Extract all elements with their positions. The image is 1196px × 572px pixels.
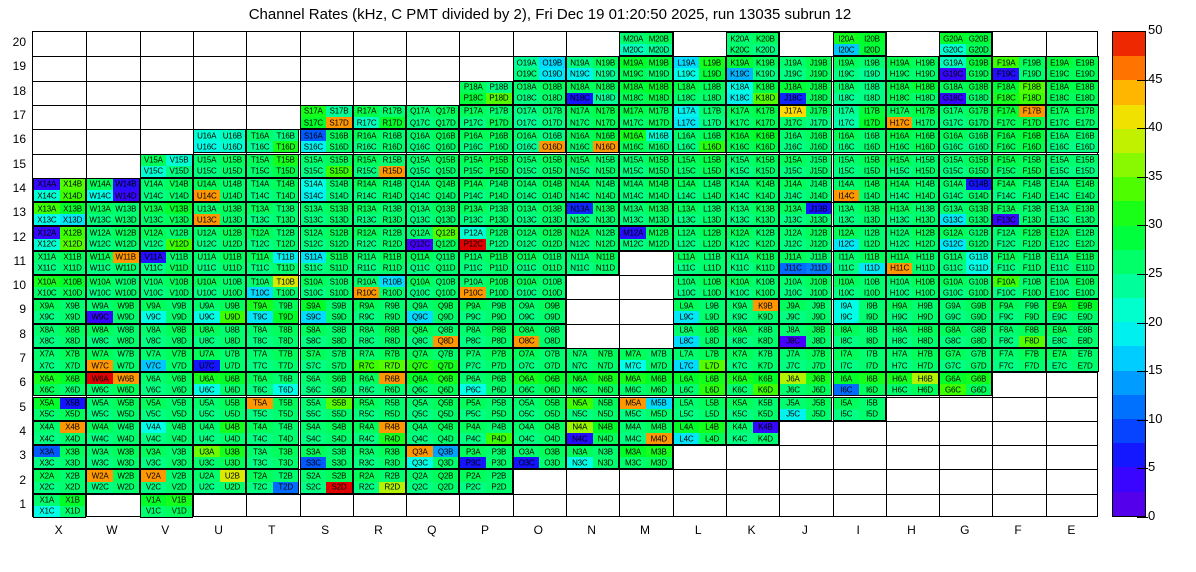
channel-quadrant-c[interactable]: L14C [674, 190, 700, 201]
paddle-cell[interactable]: P7AP7BP7CP7D [459, 348, 512, 372]
channel-quadrant-d[interactable]: V2D [166, 482, 192, 493]
paddle-cell[interactable]: I5AI5BI5CI5D [833, 397, 886, 421]
channel-quadrant-d[interactable]: W10D [113, 287, 139, 298]
paddle-cell[interactable]: I14AI14BI14CI14D [833, 178, 886, 202]
channel-quadrant-d[interactable]: T3D [273, 457, 299, 468]
channel-quadrant-a[interactable]: O6A [514, 373, 540, 384]
channel-quadrant-c[interactable]: L17C [674, 117, 700, 128]
channel-quadrant-d[interactable]: R6D [379, 384, 405, 395]
channel-quadrant-d[interactable]: M12D [646, 239, 672, 250]
channel-quadrant-a[interactable]: M15A [620, 155, 646, 166]
channel-quadrant-b[interactable]: T8B [273, 325, 299, 336]
channel-quadrant-c[interactable]: W14C [87, 190, 113, 201]
channel-quadrant-d[interactable]: J19D [806, 68, 832, 79]
channel-quadrant-c[interactable]: S9C [301, 311, 327, 322]
channel-quadrant-b[interactable]: E15B [1072, 155, 1098, 166]
channel-quadrant-a[interactable]: M13A [620, 203, 646, 214]
channel-quadrant-a[interactable]: E14A [1047, 179, 1073, 190]
channel-quadrant-d[interactable]: U4D [220, 433, 246, 444]
channel-quadrant-b[interactable]: L8B [699, 325, 725, 336]
paddle-cell[interactable]: T14AT14BT14CT14D [246, 178, 299, 202]
channel-quadrant-d[interactable]: K8D [753, 336, 779, 347]
paddle-cell[interactable]: O15AO15BO15CO15D [513, 154, 566, 178]
channel-quadrant-a[interactable]: G7A [940, 349, 966, 360]
paddle-cell[interactable]: P13AP13BP13CP13D [459, 202, 512, 226]
paddle-cell[interactable]: R8AR8BR8CR8D [353, 324, 406, 348]
channel-quadrant-a[interactable]: Q17A [407, 106, 433, 117]
channel-quadrant-d[interactable]: R14D [379, 190, 405, 201]
paddle-cell[interactable]: U11AU11BU11CU11D [193, 251, 246, 275]
channel-quadrant-a[interactable]: U13A [194, 203, 220, 214]
channel-quadrant-a[interactable]: J7A [780, 349, 806, 360]
channel-quadrant-a[interactable]: W9A [87, 300, 113, 311]
channel-quadrant-c[interactable]: W6C [87, 384, 113, 395]
channel-quadrant-a[interactable]: G19A [940, 57, 966, 68]
channel-quadrant-c[interactable]: K14C [727, 190, 753, 201]
channel-quadrant-d[interactable]: H11D [912, 263, 938, 274]
channel-quadrant-b[interactable]: N12B [593, 227, 619, 238]
channel-quadrant-c[interactable]: I11C [834, 263, 860, 274]
channel-quadrant-d[interactable]: L5D [699, 409, 725, 420]
channel-quadrant-b[interactable]: P7B [486, 349, 512, 360]
channel-quadrant-a[interactable]: T3A [247, 446, 273, 457]
channel-quadrant-c[interactable]: U12C [194, 239, 220, 250]
paddle-cell[interactable]: G10AG10BG10CG10D [939, 275, 992, 299]
channel-quadrant-b[interactable]: H6B [912, 373, 938, 384]
channel-quadrant-d[interactable]: K20D [753, 44, 779, 55]
channel-quadrant-c[interactable]: E17C [1047, 117, 1073, 128]
channel-quadrant-b[interactable]: F19B [1019, 57, 1045, 68]
channel-quadrant-d[interactable]: G18D [966, 93, 992, 104]
channel-quadrant-b[interactable]: R17B [379, 106, 405, 117]
channel-quadrant-a[interactable]: L13A [674, 203, 700, 214]
channel-quadrant-a[interactable]: M4A [620, 422, 646, 433]
paddle-cell[interactable]: G18AG18BG18CG18D [939, 81, 992, 105]
channel-quadrant-d[interactable]: L16D [699, 141, 725, 152]
channel-quadrant-d[interactable]: X10D [60, 287, 86, 298]
paddle-cell[interactable]: K10AK10BK10CK10D [726, 275, 779, 299]
channel-quadrant-c[interactable]: I17C [834, 117, 860, 128]
channel-quadrant-d[interactable]: P16D [486, 141, 512, 152]
channel-quadrant-b[interactable]: P13B [486, 203, 512, 214]
paddle-cell[interactable]: E17AE17BE17CE17D [1046, 105, 1099, 129]
paddle-cell[interactable]: F10AF10BF10CF10D [992, 275, 1045, 299]
channel-quadrant-b[interactable]: Q2B [433, 470, 459, 481]
channel-quadrant-d[interactable]: K7D [753, 360, 779, 371]
channel-quadrant-b[interactable]: J15B [806, 155, 832, 166]
channel-quadrant-a[interactable]: W14A [87, 179, 113, 190]
paddle-cell[interactable]: H13AH13BH13CH13D [886, 202, 939, 226]
paddle-cell[interactable]: I15AI15BI15CI15D [833, 154, 886, 178]
channel-quadrant-c[interactable]: P4C [460, 433, 486, 444]
paddle-cell[interactable]: R5AR5BR5CR5D [353, 397, 406, 421]
paddle-cell[interactable]: O14AO14BO14CO14D [513, 178, 566, 202]
channel-quadrant-c[interactable]: R4C [354, 433, 380, 444]
channel-quadrant-a[interactable]: W6A [87, 373, 113, 384]
channel-quadrant-b[interactable]: W8B [113, 325, 139, 336]
channel-quadrant-d[interactable]: W11D [113, 263, 139, 274]
channel-quadrant-c[interactable]: H19C [887, 68, 913, 79]
paddle-cell[interactable]: X14AX14BX14CX14D [33, 178, 86, 202]
channel-quadrant-c[interactable]: G17C [940, 117, 966, 128]
channel-quadrant-b[interactable]: W10B [113, 276, 139, 287]
paddle-cell[interactable]: T7AT7BT7CT7D [246, 348, 299, 372]
channel-quadrant-d[interactable]: S12D [326, 239, 352, 250]
channel-quadrant-b[interactable]: L15B [699, 155, 725, 166]
channel-quadrant-c[interactable]: H8C [887, 336, 913, 347]
paddle-cell[interactable]: M14AM14BM14CM14D [619, 178, 672, 202]
paddle-cell[interactable]: R14AR14BR14CR14D [353, 178, 406, 202]
channel-quadrant-a[interactable]: K9A [727, 300, 753, 311]
channel-quadrant-d[interactable]: K19D [753, 68, 779, 79]
channel-quadrant-b[interactable]: P6B [486, 373, 512, 384]
channel-quadrant-a[interactable]: H8A [887, 325, 913, 336]
paddle-cell[interactable]: W2AW2BW2CW2D [86, 469, 139, 493]
channel-quadrant-d[interactable]: R4D [379, 433, 405, 444]
channel-quadrant-c[interactable]: S5C [301, 409, 327, 420]
channel-quadrant-d[interactable]: L13D [699, 214, 725, 225]
channel-quadrant-c[interactable]: M17C [620, 117, 646, 128]
paddle-cell[interactable]: F13AF13BF13CF13D [992, 202, 1045, 226]
channel-quadrant-d[interactable]: W14D [113, 190, 139, 201]
paddle-cell[interactable]: Q10AQ10BQ10CQ10D [406, 275, 459, 299]
channel-quadrant-b[interactable]: R4B [379, 422, 405, 433]
channel-quadrant-c[interactable]: J15C [780, 166, 806, 177]
channel-quadrant-a[interactable]: W12A [87, 227, 113, 238]
channel-quadrant-c[interactable]: F13C [993, 214, 1019, 225]
paddle-cell[interactable]: T16AT16BT16CT16D [246, 129, 299, 153]
channel-quadrant-a[interactable]: Q12A [407, 227, 433, 238]
channel-quadrant-d[interactable]: G7D [966, 360, 992, 371]
paddle-cell[interactable]: K20AK20BK20CK20D [726, 32, 779, 56]
channel-quadrant-b[interactable]: H14B [912, 179, 938, 190]
channel-quadrant-d[interactable]: L7D [699, 360, 725, 371]
channel-quadrant-d[interactable]: V11D [166, 263, 192, 274]
channel-quadrant-d[interactable]: N3D [593, 457, 619, 468]
channel-quadrant-d[interactable]: Q15D [433, 166, 459, 177]
channel-quadrant-a[interactable]: J13A [780, 203, 806, 214]
channel-quadrant-a[interactable]: L18A [674, 82, 700, 93]
channel-quadrant-a[interactable]: N14A [567, 179, 593, 190]
channel-quadrant-c[interactable]: G15C [940, 166, 966, 177]
channel-quadrant-d[interactable]: V14D [166, 190, 192, 201]
channel-quadrant-b[interactable]: L18B [699, 82, 725, 93]
paddle-cell[interactable]: W4AW4BW4CW4D [86, 421, 139, 445]
paddle-cell[interactable]: Q9AQ9BQ9CQ9D [406, 299, 459, 323]
channel-quadrant-c[interactable]: S6C [301, 384, 327, 395]
channel-quadrant-d[interactable]: T4D [273, 433, 299, 444]
channel-quadrant-b[interactable]: J19B [806, 57, 832, 68]
paddle-cell[interactable]: Q12AQ12BQ12CQ12D [406, 226, 459, 250]
paddle-cell[interactable]: G20AG20BG20CG20D [939, 32, 992, 56]
paddle-cell[interactable]: K16AK16BK16CK16D [726, 129, 779, 153]
channel-quadrant-a[interactable]: M12A [620, 227, 646, 238]
channel-quadrant-b[interactable]: S9B [326, 300, 352, 311]
channel-quadrant-b[interactable]: P15B [486, 155, 512, 166]
channel-quadrant-a[interactable]: V3A [141, 446, 167, 457]
channel-quadrant-b[interactable]: J11B [806, 252, 832, 263]
paddle-cell[interactable]: U12AU12BU12CU12D [193, 226, 246, 250]
paddle-cell[interactable]: G14AG14BG14CG14D [939, 178, 992, 202]
channel-quadrant-a[interactable]: J12A [780, 227, 806, 238]
channel-quadrant-d[interactable]: O15D [539, 166, 565, 177]
channel-quadrant-d[interactable]: K6D [753, 384, 779, 395]
channel-quadrant-d[interactable]: M18D [646, 93, 672, 104]
channel-quadrant-d[interactable]: E9D [1072, 311, 1098, 322]
channel-quadrant-c[interactable]: N13C [567, 214, 593, 225]
channel-quadrant-c[interactable]: R10C [354, 287, 380, 298]
paddle-cell[interactable]: M17AM17BM17CM17D [619, 105, 672, 129]
channel-quadrant-b[interactable]: O17B [539, 106, 565, 117]
channel-quadrant-d[interactable]: H14D [912, 190, 938, 201]
paddle-cell[interactable]: L6AL6BL6CL6D [673, 372, 726, 396]
channel-quadrant-a[interactable]: Q3A [407, 446, 433, 457]
channel-quadrant-a[interactable]: J15A [780, 155, 806, 166]
channel-quadrant-a[interactable]: R5A [354, 398, 380, 409]
channel-quadrant-c[interactable]: S16C [301, 141, 327, 152]
channel-quadrant-c[interactable]: V5C [141, 409, 167, 420]
channel-quadrant-a[interactable]: H7A [887, 349, 913, 360]
channel-quadrant-b[interactable]: E9B [1072, 300, 1098, 311]
paddle-cell[interactable]: T13AT13BT13CT13D [246, 202, 299, 226]
channel-quadrant-a[interactable]: T11A [247, 252, 273, 263]
channel-quadrant-a[interactable]: I12A [834, 227, 860, 238]
channel-quadrant-d[interactable]: U3D [220, 457, 246, 468]
channel-quadrant-d[interactable]: Q2D [433, 482, 459, 493]
paddle-cell[interactable]: U9AU9BU9CU9D [193, 299, 246, 323]
paddle-cell[interactable]: J11AJ11BJ11CJ11D [779, 251, 832, 275]
channel-quadrant-a[interactable]: I15A [834, 155, 860, 166]
channel-quadrant-a[interactable]: L5A [674, 398, 700, 409]
paddle-cell[interactable]: T12AT12BT12CT12D [246, 226, 299, 250]
channel-quadrant-d[interactable]: S17D [326, 117, 352, 128]
channel-quadrant-c[interactable]: P13C [460, 214, 486, 225]
channel-quadrant-a[interactable]: G6A [940, 373, 966, 384]
paddle-cell[interactable]: V1AV1BV1CV1D [140, 494, 193, 518]
channel-quadrant-c[interactable]: Q13C [407, 214, 433, 225]
channel-quadrant-a[interactable]: F19A [993, 57, 1019, 68]
channel-quadrant-d[interactable]: E8D [1072, 336, 1098, 347]
channel-quadrant-a[interactable]: N4A [567, 422, 593, 433]
channel-quadrant-c[interactable]: S15C [301, 166, 327, 177]
channel-quadrant-a[interactable]: O14A [514, 179, 540, 190]
paddle-cell[interactable]: T4AT4BT4CT4D [246, 421, 299, 445]
channel-quadrant-d[interactable]: I8D [859, 336, 885, 347]
channel-quadrant-d[interactable]: E7D [1072, 360, 1098, 371]
channel-quadrant-a[interactable]: X5A [34, 398, 60, 409]
paddle-cell[interactable]: U14AU14BU14CU14D [193, 178, 246, 202]
channel-quadrant-a[interactable]: T2A [247, 470, 273, 481]
paddle-cell[interactable]: S16AS16BS16CS16D [300, 129, 353, 153]
channel-quadrant-c[interactable]: S10C [301, 287, 327, 298]
channel-quadrant-c[interactable]: H16C [887, 141, 913, 152]
channel-quadrant-b[interactable]: P18B [486, 82, 512, 93]
channel-quadrant-a[interactable]: T10A [247, 276, 273, 287]
channel-quadrant-a[interactable]: T4A [247, 422, 273, 433]
channel-quadrant-d[interactable]: F11D [1019, 263, 1045, 274]
paddle-cell[interactable]: R3AR3BR3CR3D [353, 445, 406, 469]
channel-quadrant-a[interactable]: N15A [567, 155, 593, 166]
channel-quadrant-b[interactable]: U7B [220, 349, 246, 360]
paddle-cell[interactable]: L13AL13BL13CL13D [673, 202, 726, 226]
channel-quadrant-d[interactable]: E17D [1072, 117, 1098, 128]
channel-quadrant-c[interactable]: E9C [1047, 311, 1073, 322]
channel-quadrant-c[interactable]: K13C [727, 214, 753, 225]
channel-quadrant-d[interactable]: W4D [113, 433, 139, 444]
paddle-cell[interactable]: J16AJ16BJ16CJ16D [779, 129, 832, 153]
channel-quadrant-b[interactable]: F16B [1019, 130, 1045, 141]
channel-quadrant-b[interactable]: O8B [539, 325, 565, 336]
channel-quadrant-b[interactable]: O9B [539, 300, 565, 311]
channel-quadrant-d[interactable]: K12D [753, 239, 779, 250]
paddle-cell[interactable]: I10AI10BI10CI10D [833, 275, 886, 299]
channel-quadrant-a[interactable]: R15A [354, 155, 380, 166]
channel-quadrant-d[interactable]: P4D [486, 433, 512, 444]
channel-quadrant-d[interactable]: K5D [753, 409, 779, 420]
channel-quadrant-d[interactable]: X3D [60, 457, 86, 468]
channel-quadrant-b[interactable]: R10B [379, 276, 405, 287]
channel-quadrant-a[interactable]: R7A [354, 349, 380, 360]
channel-quadrant-a[interactable]: S14A [301, 179, 327, 190]
channel-quadrant-c[interactable]: L16C [674, 141, 700, 152]
channel-quadrant-b[interactable]: R11B [379, 252, 405, 263]
channel-quadrant-d[interactable]: U6D [220, 384, 246, 395]
channel-quadrant-d[interactable]: J8D [806, 336, 832, 347]
channel-quadrant-a[interactable]: X2A [34, 470, 60, 481]
paddle-cell[interactable]: S3AS3BS3CS3D [300, 445, 353, 469]
channel-quadrant-a[interactable]: O16A [514, 130, 540, 141]
channel-quadrant-b[interactable]: U3B [220, 446, 246, 457]
channel-quadrant-d[interactable]: Q10D [433, 287, 459, 298]
paddle-cell[interactable]: M3AM3BM3CM3D [619, 445, 672, 469]
channel-quadrant-a[interactable]: L12A [674, 227, 700, 238]
paddle-cell[interactable]: L9AL9BL9CL9D [673, 299, 726, 323]
channel-quadrant-a[interactable]: I13A [834, 203, 860, 214]
channel-quadrant-a[interactable]: R12A [354, 227, 380, 238]
channel-quadrant-a[interactable]: V7A [141, 349, 167, 360]
channel-quadrant-c[interactable]: G12C [940, 239, 966, 250]
channel-quadrant-a[interactable]: M19A [620, 57, 646, 68]
paddle-cell[interactable]: N19AN19BN19CN19D [566, 56, 619, 80]
channel-quadrant-b[interactable]: N11B [593, 252, 619, 263]
channel-quadrant-b[interactable]: V13B [166, 203, 192, 214]
paddle-cell[interactable]: E9AE9BE9CE9D [1046, 299, 1099, 323]
channel-quadrant-d[interactable]: J6D [806, 384, 832, 395]
paddle-cell[interactable]: G7AG7BG7CG7D [939, 348, 992, 372]
channel-quadrant-b[interactable]: M20B [646, 33, 672, 44]
channel-quadrant-b[interactable]: N13B [593, 203, 619, 214]
channel-quadrant-c[interactable]: F10C [993, 287, 1019, 298]
channel-quadrant-d[interactable]: R3D [379, 457, 405, 468]
channel-quadrant-d[interactable]: J18D [806, 93, 832, 104]
channel-quadrant-a[interactable]: K14A [727, 179, 753, 190]
channel-quadrant-d[interactable]: R17D [379, 117, 405, 128]
paddle-cell[interactable]: H12AH12BH12CH12D [886, 226, 939, 250]
channel-quadrant-c[interactable]: H15C [887, 166, 913, 177]
channel-quadrant-a[interactable]: E17A [1047, 106, 1073, 117]
channel-quadrant-b[interactable]: T7B [273, 349, 299, 360]
channel-quadrant-b[interactable]: I16B [859, 130, 885, 141]
channel-quadrant-c[interactable]: M18C [620, 93, 646, 104]
paddle-cell[interactable]: V15AV15BV15CV15D [140, 154, 193, 178]
channel-quadrant-c[interactable]: L19C [674, 68, 700, 79]
channel-quadrant-b[interactable]: O6B [539, 373, 565, 384]
channel-quadrant-b[interactable]: O13B [539, 203, 565, 214]
channel-quadrant-b[interactable]: Q3B [433, 446, 459, 457]
channel-quadrant-a[interactable]: K12A [727, 227, 753, 238]
channel-quadrant-c[interactable]: Q16C [407, 141, 433, 152]
channel-quadrant-c[interactable]: P10C [460, 287, 486, 298]
channel-quadrant-c[interactable]: P14C [460, 190, 486, 201]
channel-quadrant-b[interactable]: U10B [220, 276, 246, 287]
channel-quadrant-a[interactable]: E12A [1047, 227, 1073, 238]
channel-quadrant-a[interactable]: Q15A [407, 155, 433, 166]
channel-quadrant-c[interactable]: U16C [194, 141, 220, 152]
channel-quadrant-c[interactable]: N14C [567, 190, 593, 201]
channel-quadrant-b[interactable]: T3B [273, 446, 299, 457]
channel-quadrant-b[interactable]: F9B [1019, 300, 1045, 311]
channel-quadrant-a[interactable]: W7A [87, 349, 113, 360]
channel-quadrant-b[interactable]: P2B [486, 470, 512, 481]
channel-quadrant-c[interactable]: Q11C [407, 263, 433, 274]
channel-quadrant-c[interactable]: G16C [940, 141, 966, 152]
channel-quadrant-b[interactable]: U15B [220, 155, 246, 166]
channel-quadrant-c[interactable]: T10C [247, 287, 273, 298]
channel-quadrant-b[interactable]: T9B [273, 300, 299, 311]
channel-quadrant-b[interactable]: G12B [966, 227, 992, 238]
paddle-cell[interactable]: R12AR12BR12CR12D [353, 226, 406, 250]
paddle-cell[interactable]: T10AT10BT10CT10D [246, 275, 299, 299]
channel-quadrant-b[interactable]: T16B [273, 130, 299, 141]
paddle-cell[interactable]: E14AE14BE14CE14D [1046, 178, 1099, 202]
paddle-cell[interactable]: J14AJ14BJ14CJ14D [779, 178, 832, 202]
paddle-cell[interactable]: N3AN3BN3CN3D [566, 445, 619, 469]
channel-quadrant-d[interactable]: O18D [539, 93, 565, 104]
channel-quadrant-c[interactable]: I10C [834, 287, 860, 298]
channel-quadrant-a[interactable]: X12A [34, 227, 60, 238]
channel-quadrant-c[interactable]: W10C [87, 287, 113, 298]
channel-quadrant-d[interactable]: N5D [593, 409, 619, 420]
channel-quadrant-d[interactable]: F17D [1019, 117, 1045, 128]
paddle-cell[interactable]: U8AU8BU8CU8D [193, 324, 246, 348]
paddle-cell[interactable]: I7AI7BI7CI7D [833, 348, 886, 372]
channel-quadrant-c[interactable]: P16C [460, 141, 486, 152]
channel-quadrant-a[interactable]: F18A [993, 82, 1019, 93]
channel-quadrant-a[interactable]: K20A [727, 33, 753, 44]
paddle-cell[interactable]: K17AK17BK17CK17D [726, 105, 779, 129]
paddle-cell[interactable]: W6AW6BW6CW6D [86, 372, 139, 396]
channel-quadrant-b[interactable]: P17B [486, 106, 512, 117]
channel-quadrant-d[interactable]: F9D [1019, 311, 1045, 322]
channel-quadrant-a[interactable]: Q8A [407, 325, 433, 336]
paddle-cell[interactable]: O19AO19BO19CO19D [513, 56, 566, 80]
paddle-cell[interactable]: S9AS9BS9CS9D [300, 299, 353, 323]
channel-quadrant-d[interactable]: H12D [912, 239, 938, 250]
channel-quadrant-a[interactable]: U15A [194, 155, 220, 166]
paddle-cell[interactable]: K11AK11BK11CK11D [726, 251, 779, 275]
channel-quadrant-d[interactable]: I13D [859, 214, 885, 225]
channel-quadrant-a[interactable]: F10A [993, 276, 1019, 287]
paddle-cell[interactable]: X2AX2BX2CX2D [33, 469, 86, 493]
channel-quadrant-d[interactable]: K16D [753, 141, 779, 152]
channel-quadrant-b[interactable]: U13B [220, 203, 246, 214]
channel-quadrant-c[interactable]: J13C [780, 214, 806, 225]
channel-quadrant-b[interactable]: M17B [646, 106, 672, 117]
channel-quadrant-d[interactable]: N17D [593, 117, 619, 128]
channel-quadrant-b[interactable]: N7B [593, 349, 619, 360]
channel-quadrant-b[interactable]: X6B [60, 373, 86, 384]
channel-quadrant-c[interactable]: U13C [194, 214, 220, 225]
